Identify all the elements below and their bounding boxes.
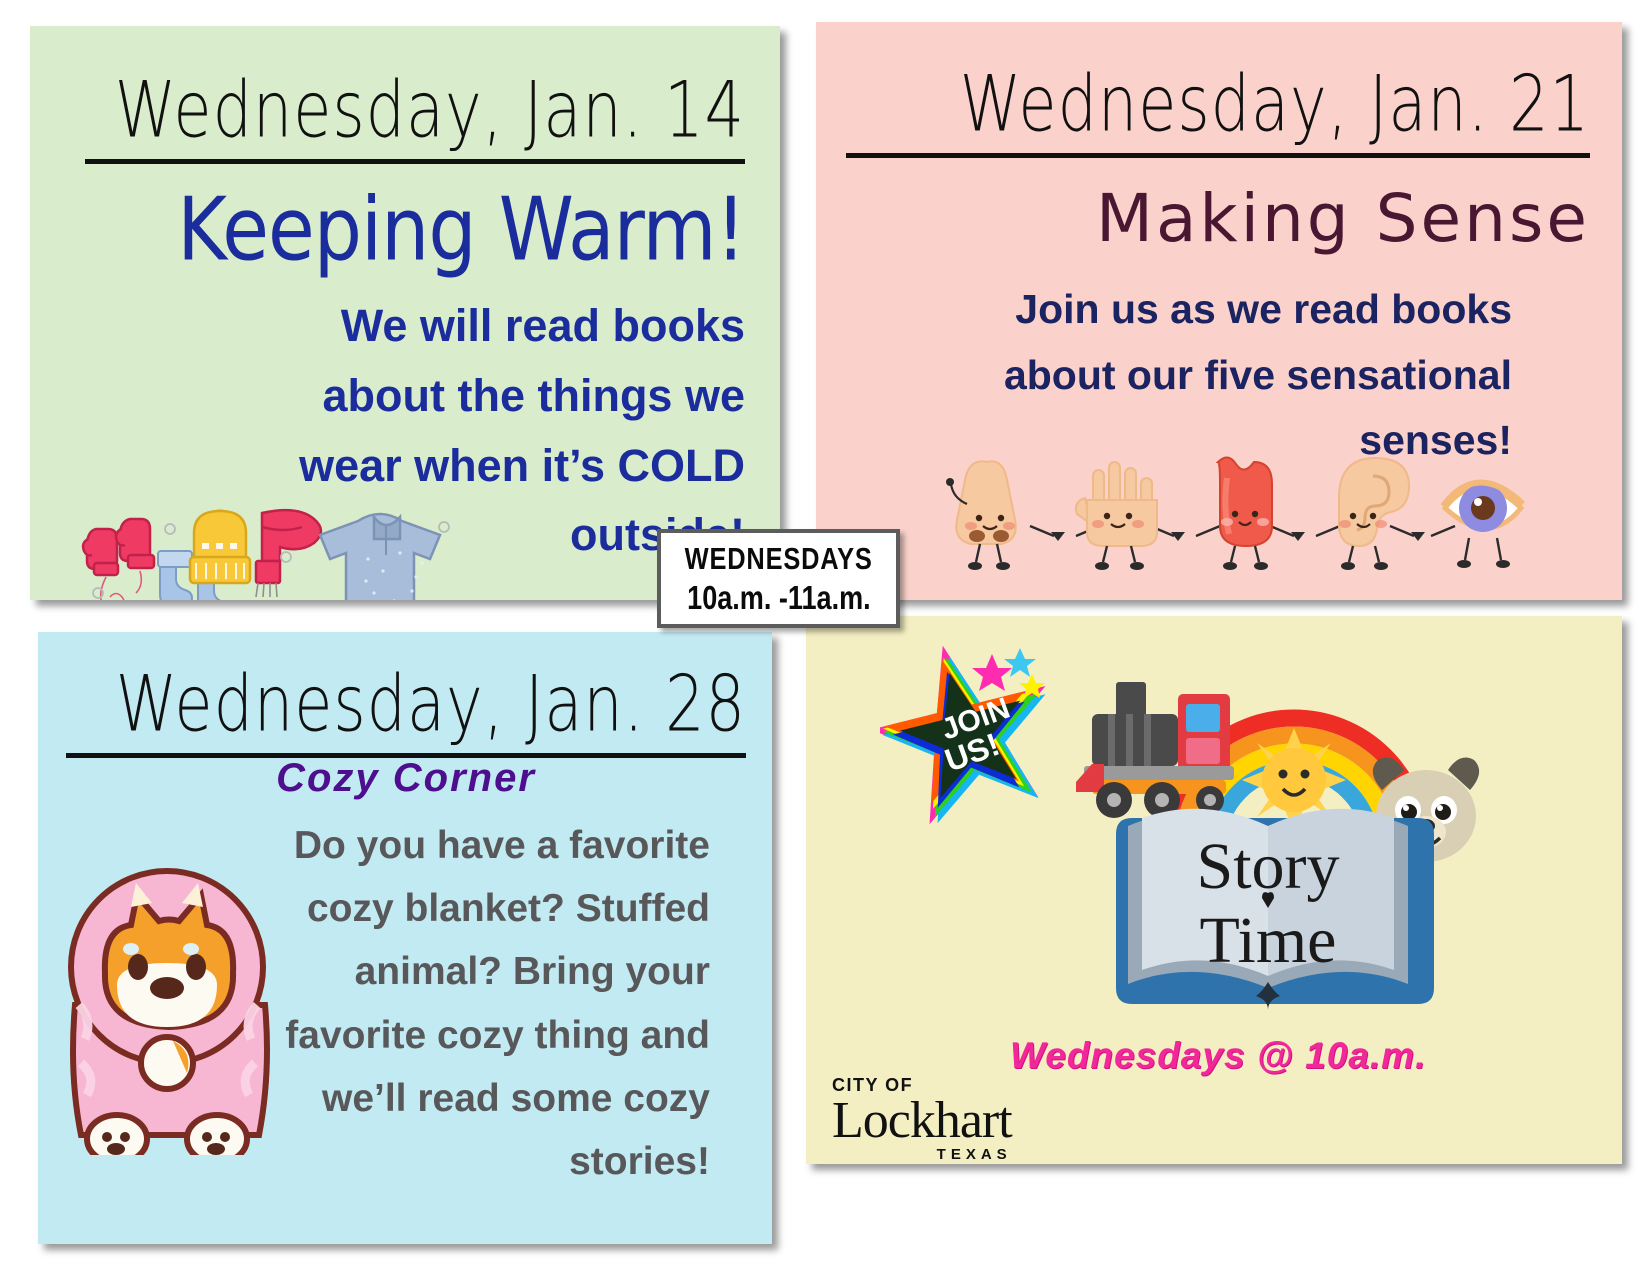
book-title-story: Story bbox=[1196, 830, 1339, 903]
body-making-sense: Join us as we read books about our five … bbox=[932, 277, 1512, 474]
date-keeping-warm: Wednesday, Jan. 14 bbox=[85, 64, 745, 155]
city-of-lockhart-logo: CITY OF Lockhart TEXAS bbox=[832, 1075, 1012, 1163]
title-making-sense: Making Sense bbox=[846, 180, 1590, 257]
date-underline bbox=[85, 159, 745, 164]
body-line: about the things we bbox=[205, 361, 745, 431]
body-line: we’ll read some cozy bbox=[250, 1067, 710, 1130]
open-book: Story Time bbox=[1116, 809, 1434, 1010]
card-making-sense: Wednesday, Jan. 21 Making Sense Join us … bbox=[816, 22, 1622, 600]
ear-icon bbox=[1339, 458, 1409, 570]
nose-icon bbox=[946, 461, 1016, 570]
body-line: favorite cozy thing and bbox=[250, 1004, 710, 1067]
time-badge-days: WEDNESDAYS bbox=[684, 541, 872, 577]
body-cozy-corner: Do you have a favorite cozy blanket? Stu… bbox=[250, 814, 710, 1193]
card-cozy-corner: Wednesday, Jan. 28 Cozy Corner Do you ha… bbox=[38, 632, 772, 1244]
time-badge: WEDNESDAYS 10a.m. -11a.m. bbox=[657, 529, 900, 628]
winter-clothes-illustration bbox=[78, 481, 458, 600]
poster-root: Wednesday, Jan. 14 Keeping Warm! We will… bbox=[0, 0, 1650, 1275]
card-keeping-warm: Wednesday, Jan. 14 Keeping Warm! We will… bbox=[30, 26, 780, 600]
date-cozy-corner: Wednesday, Jan. 28 bbox=[66, 658, 746, 749]
story-time-schedule: Wednesdays @ 10a.m. bbox=[1010, 1035, 1426, 1077]
card-story-time: JOIN US! bbox=[806, 616, 1622, 1164]
body-line: Join us as we read books bbox=[932, 277, 1512, 343]
eye-icon bbox=[1443, 482, 1523, 568]
join-us-star-badge: JOIN US! bbox=[880, 640, 1050, 825]
date-making-sense: Wednesday, Jan. 21 bbox=[846, 58, 1590, 149]
body-line: cozy blanket? Stuffed bbox=[250, 877, 710, 940]
body-line: We will read books bbox=[205, 291, 745, 361]
cozy-dog-illustration bbox=[55, 855, 285, 1155]
tongue-icon bbox=[1218, 457, 1272, 570]
logo-lockhart: Lockhart bbox=[832, 1096, 1012, 1145]
five-senses-characters bbox=[935, 448, 1545, 578]
body-line: animal? Bring your bbox=[250, 940, 710, 1003]
hand-icon bbox=[1076, 462, 1157, 570]
body-line: about our five sensational bbox=[932, 343, 1512, 409]
book-title-time: Time bbox=[1200, 904, 1337, 977]
time-badge-hours: 10a.m. -11a.m. bbox=[687, 579, 871, 617]
train-icon bbox=[1076, 682, 1234, 818]
title-cozy-corner: Cozy Corner bbox=[66, 756, 746, 801]
date-underline bbox=[846, 153, 1590, 158]
body-line: stories! bbox=[250, 1130, 710, 1193]
story-time-book-scene: Story Time bbox=[1040, 620, 1510, 1020]
title-keeping-warm: Keeping Warm! bbox=[85, 178, 745, 280]
body-line: Do you have a favorite bbox=[250, 814, 710, 877]
